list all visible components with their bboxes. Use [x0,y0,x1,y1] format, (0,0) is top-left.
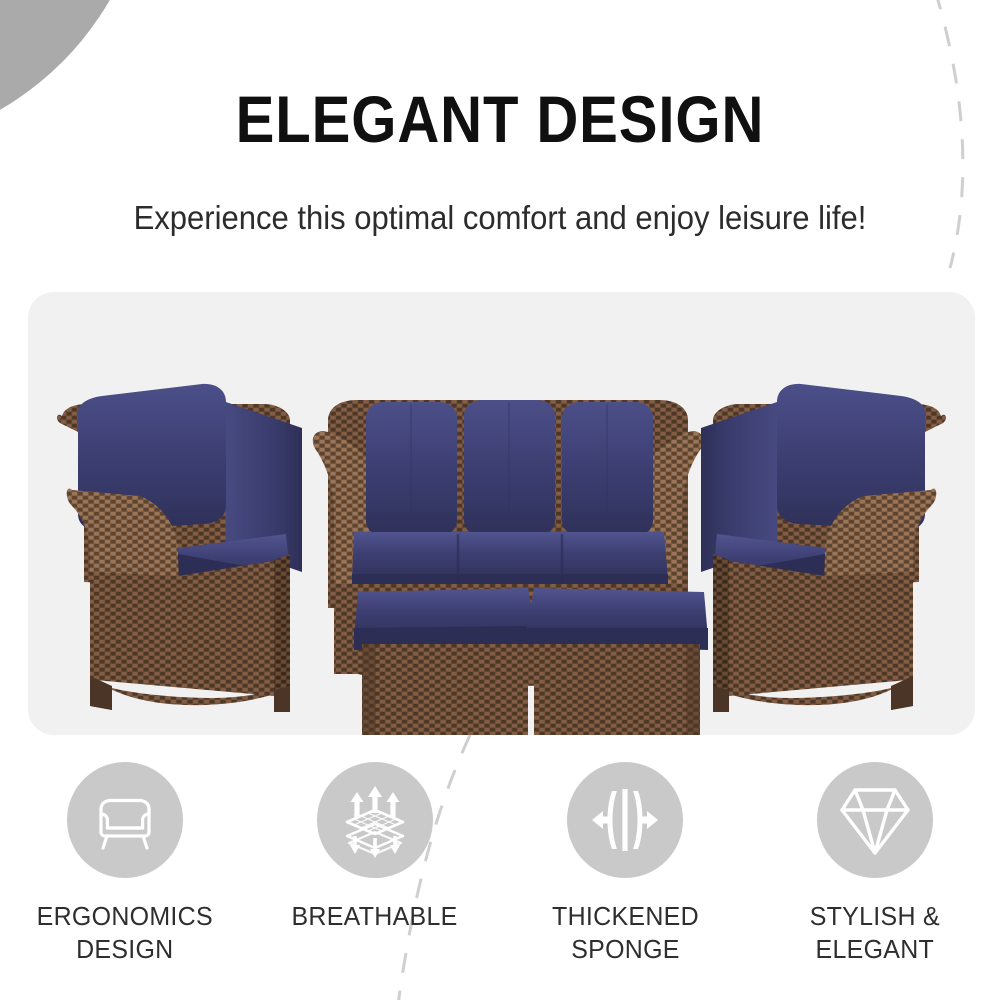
marketing-image: ELEGANT DESIGN Experience this optimal c… [0,0,1000,1000]
page-subtitle: Experience this optimal comfort and enjo… [30,198,970,238]
diamond-icon [835,781,915,859]
feature-label: STYLISH & ELEGANT [810,900,940,966]
furniture-set-illustration [28,292,975,735]
feature-item-thickened-sponge[interactable]: THICKENED SPONGE [505,762,745,966]
feature-icon-circle [567,762,683,878]
compression-arrows-icon [586,781,664,859]
ottoman-left [354,588,536,735]
feature-list: ERGONOMICS DESIGN [0,762,1000,1000]
feature-label: BREATHABLE [292,900,458,933]
feature-item-ergonomics-design[interactable]: ERGONOMICS DESIGN [5,762,245,966]
feature-icon-circle [317,762,433,878]
feature-item-breathable[interactable]: BREATHABLE [255,762,495,933]
feature-label: THICKENED SPONGE [552,900,699,966]
feature-item-stylish-elegant[interactable]: STYLISH & ELEGANT [755,762,995,966]
armchair-right [701,384,946,712]
feature-icon-circle [67,762,183,878]
page-title: ELEGANT DESIGN [60,86,940,152]
armchair-icon [88,783,162,857]
product-photo-panel [28,292,975,735]
feature-label: ERGONOMICS DESIGN [37,900,213,966]
breathable-mesh-icon [335,780,415,860]
armchair-left [57,384,302,712]
feature-icon-circle [817,762,933,878]
ottoman-right [526,588,708,735]
